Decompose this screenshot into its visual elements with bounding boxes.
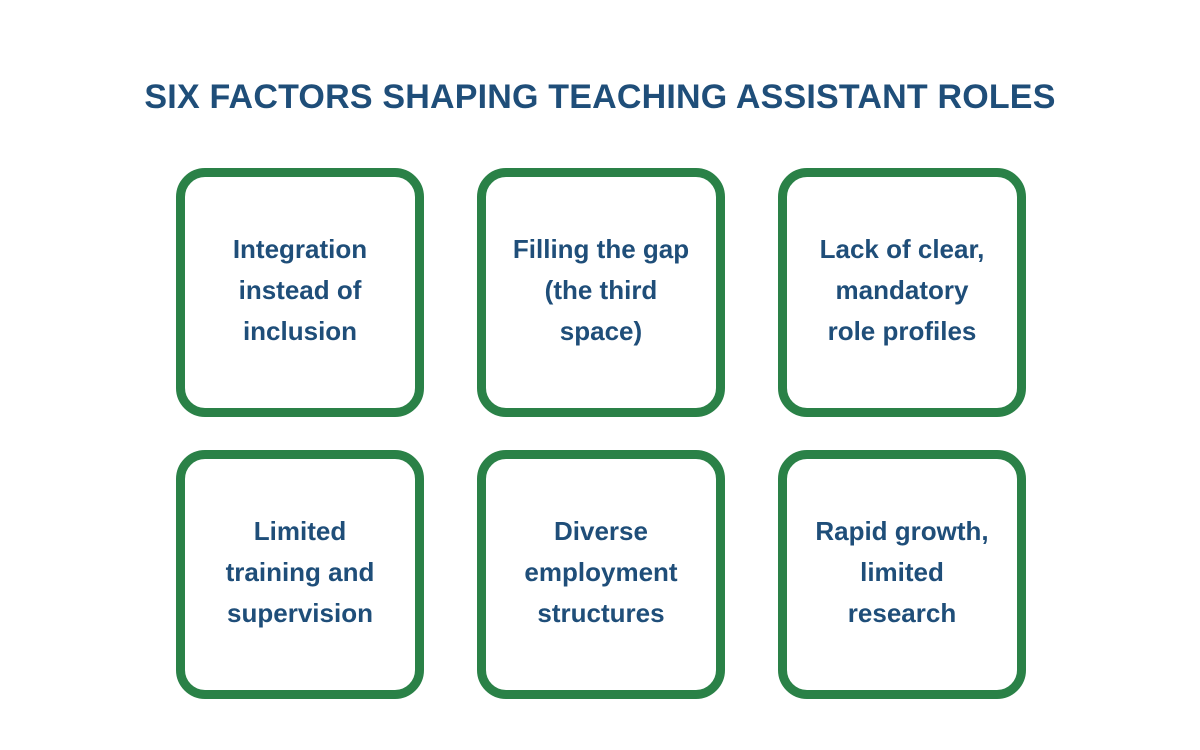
factor-card-label: Lack of clear, mandatory role profiles xyxy=(799,229,1005,352)
factor-card-integration-instead-of-inclusion[interactable]: Integration instead of inclusion xyxy=(176,168,424,417)
factor-card-lack-of-clear-mandatory-role-profiles[interactable]: Lack of clear, mandatory role profiles xyxy=(778,168,1026,417)
factor-card-grid: Integration instead of inclusion Filling… xyxy=(176,168,1026,698)
factor-card-diverse-employment-structures[interactable]: Diverse employment structures xyxy=(477,450,725,699)
infographic-canvas: SIX FACTORS SHAPING TEACHING ASSISTANT R… xyxy=(0,0,1200,750)
factor-card-limited-training-and-supervision[interactable]: Limited training and supervision xyxy=(176,450,424,699)
factor-card-label: Diverse employment structures xyxy=(498,511,704,634)
factor-card-label: Integration instead of inclusion xyxy=(197,229,403,352)
factor-card-filling-the-gap[interactable]: Filling the gap (the third space) xyxy=(477,168,725,417)
factor-card-label: Limited training and supervision xyxy=(197,511,403,634)
page-title: SIX FACTORS SHAPING TEACHING ASSISTANT R… xyxy=(0,75,1200,119)
factor-card-label: Filling the gap (the third space) xyxy=(498,229,704,352)
factor-card-label: Rapid growth, limited research xyxy=(799,511,1005,634)
factor-card-rapid-growth-limited-research[interactable]: Rapid growth, limited research xyxy=(778,450,1026,699)
